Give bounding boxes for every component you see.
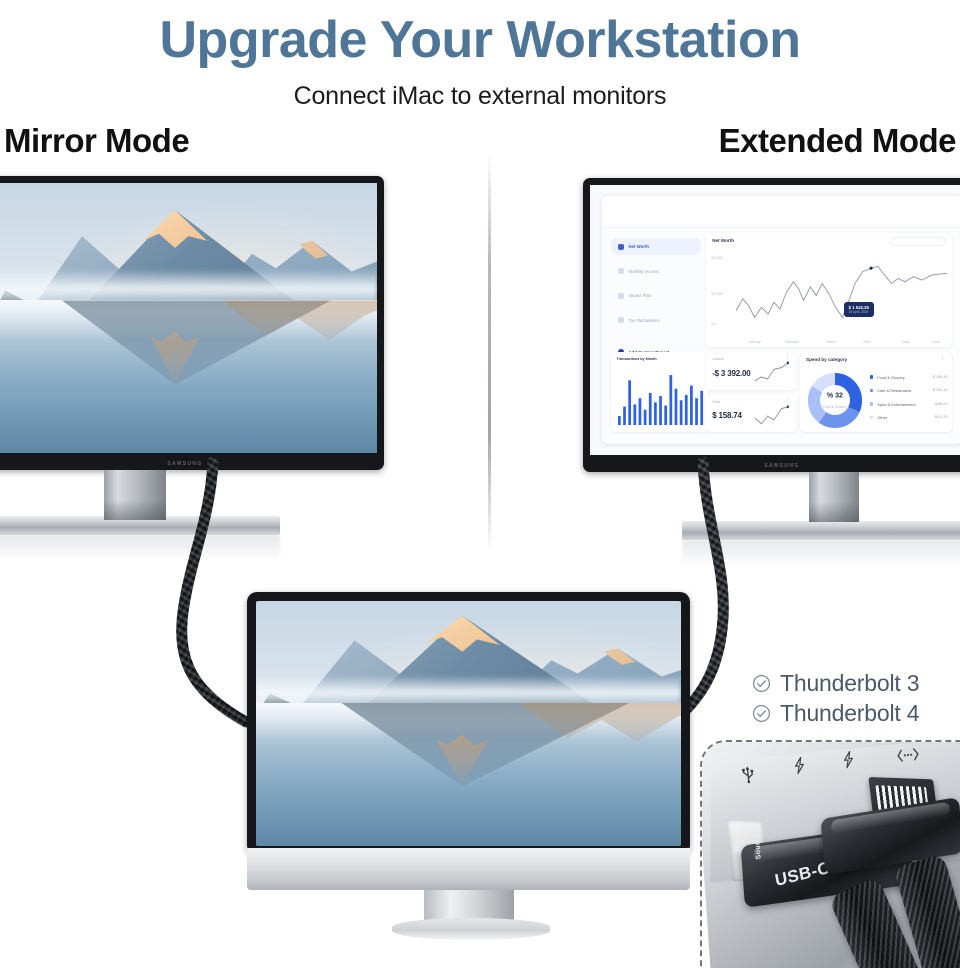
x-tick: February bbox=[785, 340, 799, 344]
debt-label: Debt bbox=[712, 400, 720, 404]
desk-surface-right bbox=[682, 521, 960, 540]
thunderbolt-icon bbox=[838, 749, 859, 770]
y-tick: $ 0 bbox=[711, 322, 716, 326]
feature-list: Thunderbolt 3 Thunderbolt 4 bbox=[752, 668, 919, 728]
bar-card-title: Transactions by Month bbox=[617, 357, 657, 361]
desk-reflection-left bbox=[0, 535, 280, 561]
income-icon bbox=[618, 268, 624, 274]
net-worth-card: Net Worth $ 5,000 $ 2,500 $ 0 $ 1 542.25… bbox=[706, 233, 951, 347]
sidebar-item-label: Impact Plan bbox=[629, 293, 652, 298]
feature-item-thunderbolt-3: Thunderbolt 3 bbox=[752, 668, 919, 698]
wallpaper-mountain-lake bbox=[0, 183, 377, 453]
legend-value: $ 156.45 bbox=[933, 375, 948, 379]
feature-item-thunderbolt-4: Thunderbolt 4 bbox=[752, 698, 919, 728]
legend-label: Food & Grocery bbox=[877, 375, 904, 380]
usb-icon bbox=[737, 763, 759, 785]
right-monitor-screen: Balance Dashboard Reports Goals Elise Ed… bbox=[590, 185, 960, 455]
cable-left-monitor-to-imac bbox=[182, 462, 246, 722]
legend-label: Cafe & Restaurants bbox=[877, 388, 911, 393]
legend-label: Sport & Entertainment bbox=[877, 402, 915, 407]
y-tick: $ 2,500 bbox=[711, 292, 723, 296]
legend-label: Other bbox=[877, 415, 887, 420]
transactions-bar-chart bbox=[618, 373, 704, 425]
right-monitor-stand-neck bbox=[809, 472, 859, 522]
debt-stat-card: Debt $ 158.74 ⋮ bbox=[706, 395, 796, 432]
sidebar-item-net-worth[interactable]: Net Worth bbox=[611, 238, 701, 255]
lake-water bbox=[256, 703, 681, 846]
spend-by-category-card: Spend by category ⋮ % 32 Food & Grocery … bbox=[800, 352, 952, 431]
legend-item: Sport & Entertainment bbox=[870, 402, 916, 407]
x-tick: March bbox=[826, 340, 836, 344]
sidebar-item-impact-plan[interactable]: Impact Plan bbox=[611, 287, 701, 304]
assets-value: -$ 3 392.00 bbox=[712, 369, 750, 378]
donut-center-percent: % 32 bbox=[827, 392, 843, 399]
net-worth-line-chart bbox=[736, 258, 947, 331]
assets-sparkline bbox=[755, 360, 793, 385]
dock-photo-inset: Source USB-C bbox=[700, 740, 960, 968]
imac-display bbox=[247, 592, 690, 855]
chart-tooltip: $ 1 542.25 15 April, 2019 bbox=[844, 302, 874, 317]
right-monitor-brand: SAMSUNG bbox=[764, 463, 799, 469]
debt-sparkline bbox=[755, 403, 793, 428]
right-monitor: Balance Dashboard Reports Goals Elise Ed… bbox=[583, 178, 960, 472]
sidebar-item-label: Net Worth bbox=[629, 244, 649, 249]
label-extended-mode: Extended Mode bbox=[719, 122, 956, 160]
left-monitor-screen bbox=[0, 183, 377, 453]
sidebar-item-label: Tax Fluctuations bbox=[629, 318, 660, 323]
lake-water bbox=[0, 300, 377, 453]
imac-stand-foot bbox=[392, 918, 550, 940]
desk-reflection-right bbox=[682, 540, 960, 566]
dashboard-canvas: Balance Dashboard Reports Goals Elise Ed… bbox=[602, 196, 960, 444]
spend-donut-chart: % 32 Food & Grocery bbox=[808, 373, 863, 428]
x-tick: May bbox=[903, 340, 910, 344]
x-tick: April bbox=[863, 340, 870, 344]
check-circle-icon bbox=[752, 674, 771, 693]
section-divider bbox=[488, 152, 491, 552]
legend-swatch bbox=[870, 375, 874, 379]
plug-label-usb-c: USB-C bbox=[774, 858, 832, 891]
chart-icon bbox=[618, 244, 624, 250]
legend-swatch bbox=[870, 416, 874, 420]
legend-item: Cafe & Restaurants bbox=[870, 388, 911, 393]
feature-label: Thunderbolt 4 bbox=[780, 700, 919, 727]
x-tick: January bbox=[748, 340, 761, 344]
tax-icon bbox=[618, 317, 624, 323]
thunderbolt-icon bbox=[789, 755, 810, 776]
assets-label: Assets bbox=[712, 357, 723, 361]
x-tick: June bbox=[932, 340, 940, 344]
cable-left-monitor-to-imac-edge bbox=[182, 462, 246, 722]
dashboard-sidebar: Net Worth Monthly Income Impact Plan Tax… bbox=[611, 236, 701, 365]
tooltip-date: 15 April, 2019 bbox=[849, 310, 869, 314]
left-monitor-brand: SAMSUNG bbox=[167, 461, 202, 467]
legend-value: $ 86.00 bbox=[935, 402, 948, 406]
legend-value: $ 41.25 bbox=[935, 415, 948, 419]
legend-value: $ 102.10 bbox=[933, 388, 948, 392]
ethernet-icon bbox=[894, 745, 922, 766]
feature-label: Thunderbolt 3 bbox=[780, 670, 919, 697]
net-worth-title: Net Worth bbox=[712, 238, 734, 243]
legend-swatch bbox=[870, 389, 874, 393]
label-mirror-mode: Mirror Mode bbox=[4, 122, 189, 160]
dashboard-topbar bbox=[602, 196, 960, 228]
debt-value: $ 158.74 bbox=[712, 411, 742, 420]
imac-chin bbox=[247, 848, 690, 890]
sidebar-item-monthly-income[interactable]: Monthly Income bbox=[611, 263, 701, 280]
sidebar-item-tax-fluctuations[interactable]: Tax Fluctuations bbox=[611, 312, 701, 329]
dashboard-search-input[interactable] bbox=[890, 237, 946, 246]
wallpaper-mountain-lake bbox=[256, 601, 681, 846]
transactions-bar-card: Transactions by Month bbox=[611, 352, 708, 431]
donut-center-label: Food & Grocery bbox=[823, 405, 847, 409]
left-monitor: SAMSUNG bbox=[0, 176, 384, 470]
y-tick: $ 5,000 bbox=[711, 256, 723, 260]
left-monitor-stand-neck bbox=[104, 470, 166, 520]
sidebar-item-label: Monthly Income bbox=[629, 269, 659, 274]
spend-card-title: Spend by category bbox=[806, 357, 847, 362]
tooltip-value: $ 1 542.25 bbox=[849, 305, 869, 310]
assets-stat-card: Assets -$ 3 392.00 ⋮ bbox=[706, 352, 796, 389]
check-circle-icon bbox=[752, 704, 771, 723]
legend-item: Other bbox=[870, 415, 887, 420]
dashboard-app: Balance Dashboard Reports Goals Elise Ed… bbox=[590, 185, 960, 455]
legend-item: Food & Grocery bbox=[870, 375, 905, 380]
plan-icon bbox=[618, 293, 624, 299]
page-subtitle: Connect iMac to external monitors bbox=[0, 82, 960, 111]
page-title: Upgrade Your Workstation bbox=[0, 12, 960, 69]
imac-screen bbox=[256, 601, 681, 846]
legend-swatch bbox=[870, 402, 874, 406]
card-menu-icon[interactable]: ⋮ bbox=[940, 356, 946, 360]
